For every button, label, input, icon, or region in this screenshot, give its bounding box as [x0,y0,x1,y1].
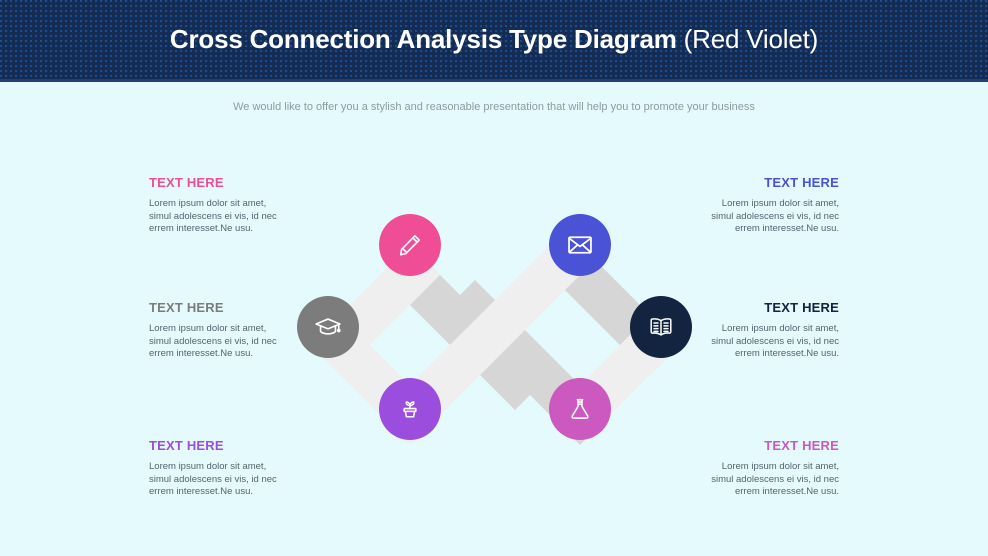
node-open-book[interactable] [630,296,692,358]
title-container: Cross Connection Analysis Type Diagram (… [0,0,988,79]
node-envelope[interactable] [549,214,611,276]
text-block-heading: TEXT HERE [149,176,349,189]
page-title-sub: (Red Violet) [677,24,818,54]
header-accent-bar [0,79,988,82]
node-potted-plant[interactable] [379,378,441,440]
envelope-icon [566,231,594,259]
node-lab-flask[interactable] [549,378,611,440]
open-book-icon [647,313,675,341]
slide-subtitle: We would like to offer you a stylish and… [0,101,988,113]
slide-canvas: Cross Connection Analysis Type Diagram (… [0,0,988,556]
node-graduation-cap[interactable] [297,296,359,358]
pencil-icon [397,232,423,258]
node-pencil[interactable] [379,214,441,276]
text-block-body: Lorem ipsum dolor sit amet, simul adoles… [149,461,349,499]
page-title-main: Cross Connection Analysis Type Diagram [170,24,677,54]
potted-plant-icon [397,396,423,422]
page-title: Cross Connection Analysis Type Diagram (… [170,24,818,55]
cross-connection-diagram [280,190,710,455]
title-bar: Cross Connection Analysis Type Diagram (… [0,0,988,82]
band-group-light [310,245,680,445]
lab-flask-icon [567,396,593,422]
graduation-cap-icon [314,313,342,341]
text-block-body: Lorem ipsum dolor sit amet, simul adoles… [639,461,839,499]
text-block-heading: TEXT HERE [639,176,839,189]
